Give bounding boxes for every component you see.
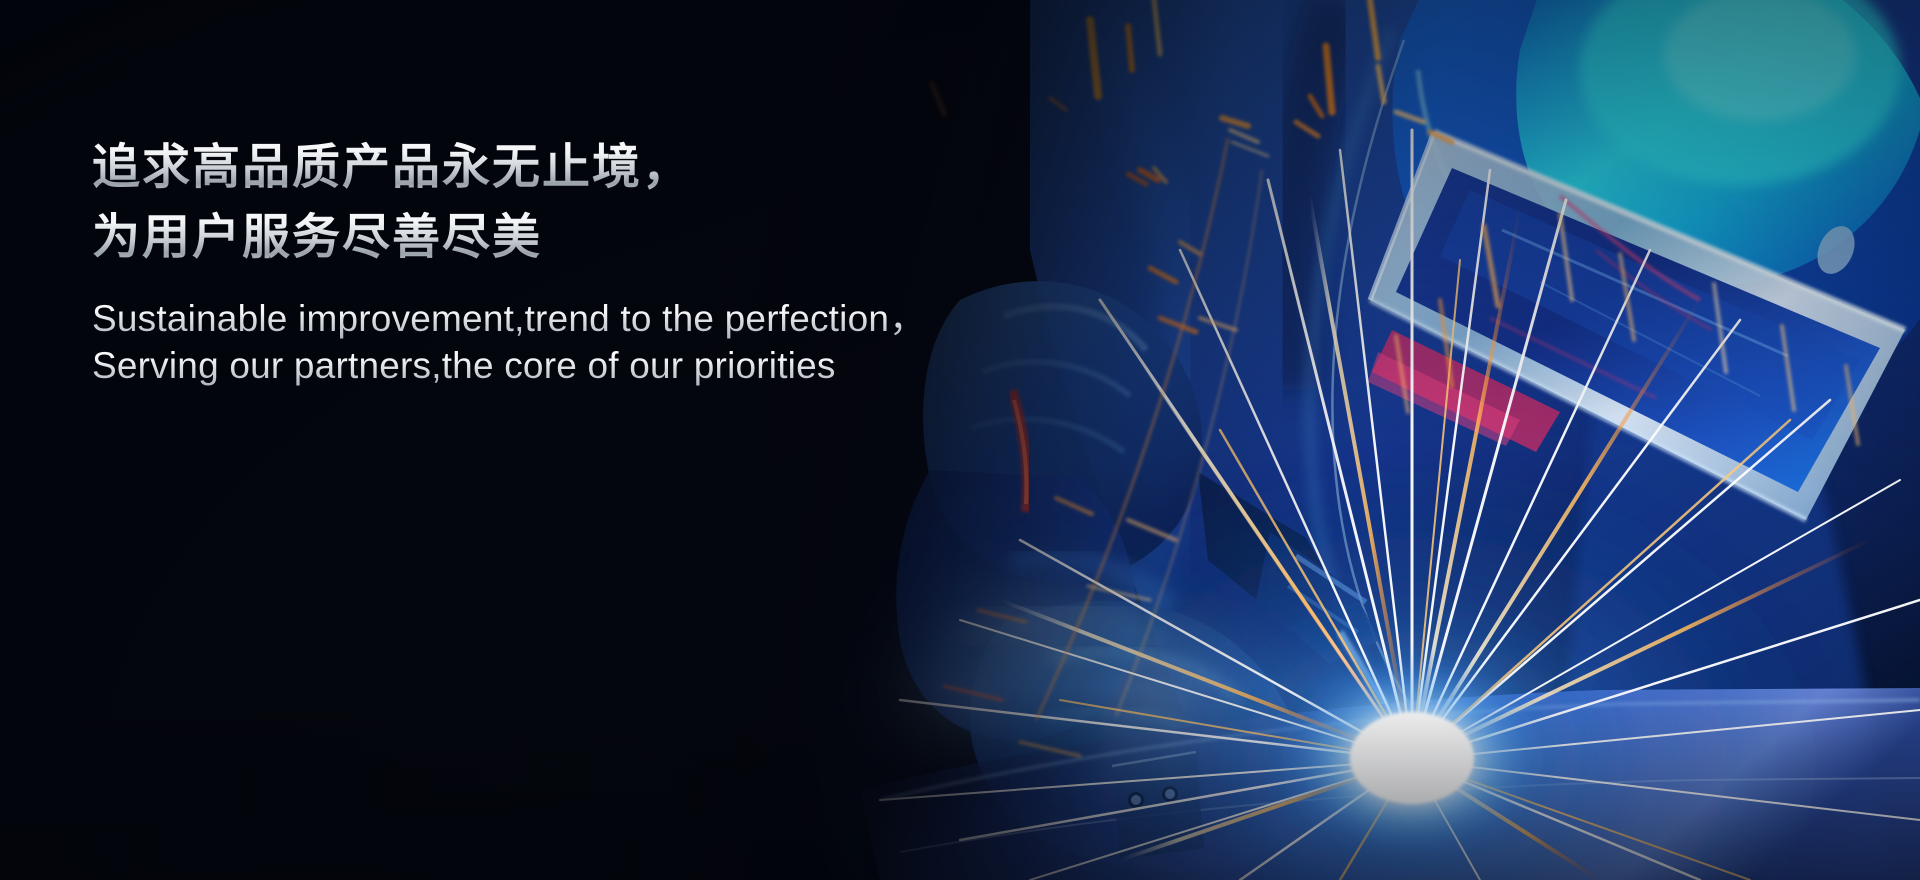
banner-copy: 追求高品质产品永无止境， 为用户服务尽善尽美 Sustainable impro… — [92, 133, 992, 389]
subheadline-line-1: Sustainable improvement,trend to the per… — [92, 295, 992, 342]
subheadline-line-2: Serving our partners,the core of our pri… — [92, 342, 992, 389]
hero-banner: 追求高品质产品永无止境， 为用户服务尽善尽美 Sustainable impro… — [0, 0, 1920, 880]
headline-line-1: 追求高品质产品永无止境， — [92, 133, 992, 203]
subheadline-block: Sustainable improvement,trend to the per… — [92, 295, 992, 389]
headline-line-2: 为用户服务尽善尽美 — [92, 203, 992, 273]
welding-photo-scene — [0, 0, 1920, 880]
weld-arc-core — [1262, 648, 1562, 872]
